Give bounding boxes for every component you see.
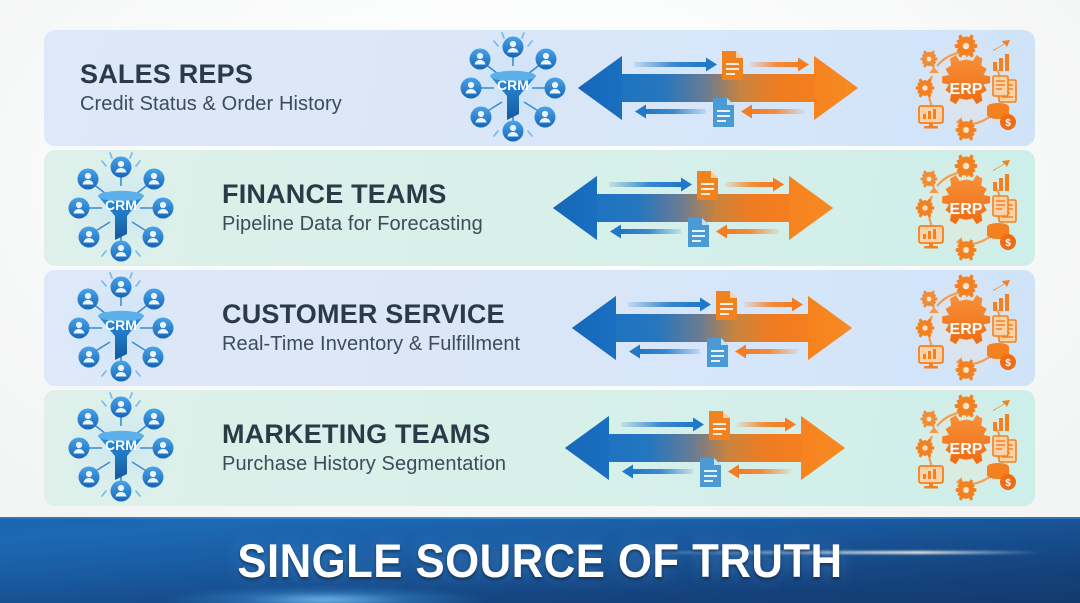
erp-label: ERP <box>950 201 983 218</box>
erp-label: ERP <box>950 321 983 338</box>
row-text-block: FINANCE TEAMS Pipeline Data for Forecast… <box>222 180 483 236</box>
row-title: CUSTOMER SERVICE <box>222 300 520 329</box>
row-finance-teams[interactable]: CRM FINANCE TEAMS Pipeline Data for Fore… <box>44 150 1035 266</box>
crm-label: CRM <box>105 317 137 333</box>
erp-gear-system-icon[interactable]: ERP <box>907 272 1025 384</box>
crm-funnel-network-icon[interactable]: CRM <box>62 152 180 264</box>
bidirectional-sync-arrow[interactable] <box>568 276 856 380</box>
erp-label: ERP <box>950 441 983 458</box>
document-orange-icon <box>722 51 743 80</box>
row-subtitle: Real-Time Inventory & Fulfillment <box>222 333 520 355</box>
document-orange-icon <box>716 291 737 320</box>
downstream-flow <box>622 458 791 487</box>
bidirectional-sync-arrow[interactable] <box>549 156 837 260</box>
svg-text:$: $ <box>1005 478 1011 489</box>
erp-label: ERP <box>950 81 983 98</box>
row-subtitle: Pipeline Data for Forecasting <box>222 213 483 235</box>
row-marketing-teams[interactable]: CRM MARKETING TEAMS Purchase History Seg… <box>44 390 1035 506</box>
downstream-flow <box>610 218 779 247</box>
document-orange-icon <box>709 411 730 440</box>
crm-funnel-network-icon[interactable]: CRM <box>62 272 180 384</box>
row-subtitle: Purchase History Segmentation <box>222 453 506 475</box>
svg-text:$: $ <box>1005 358 1011 369</box>
banner-title: SINGLE SOURCE OF TRUTH <box>38 517 1042 603</box>
erp-gear-system-icon[interactable]: ERP <box>907 392 1025 504</box>
crm-funnel-network-icon[interactable]: CRM <box>62 392 180 504</box>
crm-label: CRM <box>105 197 137 213</box>
erp-gear-system-icon[interactable]: ERP <box>907 32 1025 144</box>
svg-text:$: $ <box>1005 238 1011 249</box>
document-blue-icon <box>688 218 709 247</box>
document-blue-icon <box>700 458 721 487</box>
erp-gear-system-icon[interactable]: ERP <box>907 152 1025 264</box>
bottom-banner: SINGLE SOURCE OF TRUTH <box>0 517 1080 603</box>
row-title: FINANCE TEAMS <box>222 180 483 209</box>
row-text-block: MARKETING TEAMS Purchase History Segment… <box>222 420 506 476</box>
downstream-flow <box>629 338 798 367</box>
bidirectional-sync-arrow[interactable] <box>561 396 849 500</box>
crm-label: CRM <box>497 77 529 93</box>
row-title: MARKETING TEAMS <box>222 420 506 449</box>
crm-funnel-network-icon[interactable]: CRM <box>454 32 572 144</box>
row-customer-service[interactable]: CRM CUSTOMER SERVICE Real-Time Inventory… <box>44 270 1035 386</box>
row-subtitle: Credit Status & Order History <box>80 93 342 115</box>
bidirectional-sync-arrow[interactable] <box>574 36 862 140</box>
row-text-block: CUSTOMER SERVICE Real-Time Inventory & F… <box>222 300 520 356</box>
svg-text:$: $ <box>1005 118 1011 129</box>
document-blue-icon <box>713 98 734 127</box>
crm-label: CRM <box>105 437 137 453</box>
rows-container: SALES REPS Credit Status & Order History <box>0 0 1080 513</box>
document-orange-icon <box>697 171 718 200</box>
downstream-flow <box>635 98 804 127</box>
row-title: SALES REPS <box>80 60 342 89</box>
row-text-block: SALES REPS Credit Status & Order History <box>80 60 342 116</box>
row-sales-reps[interactable]: SALES REPS Credit Status & Order History <box>44 30 1035 146</box>
document-blue-icon <box>707 338 728 367</box>
infographic-canvas: SALES REPS Credit Status & Order History <box>0 0 1080 603</box>
